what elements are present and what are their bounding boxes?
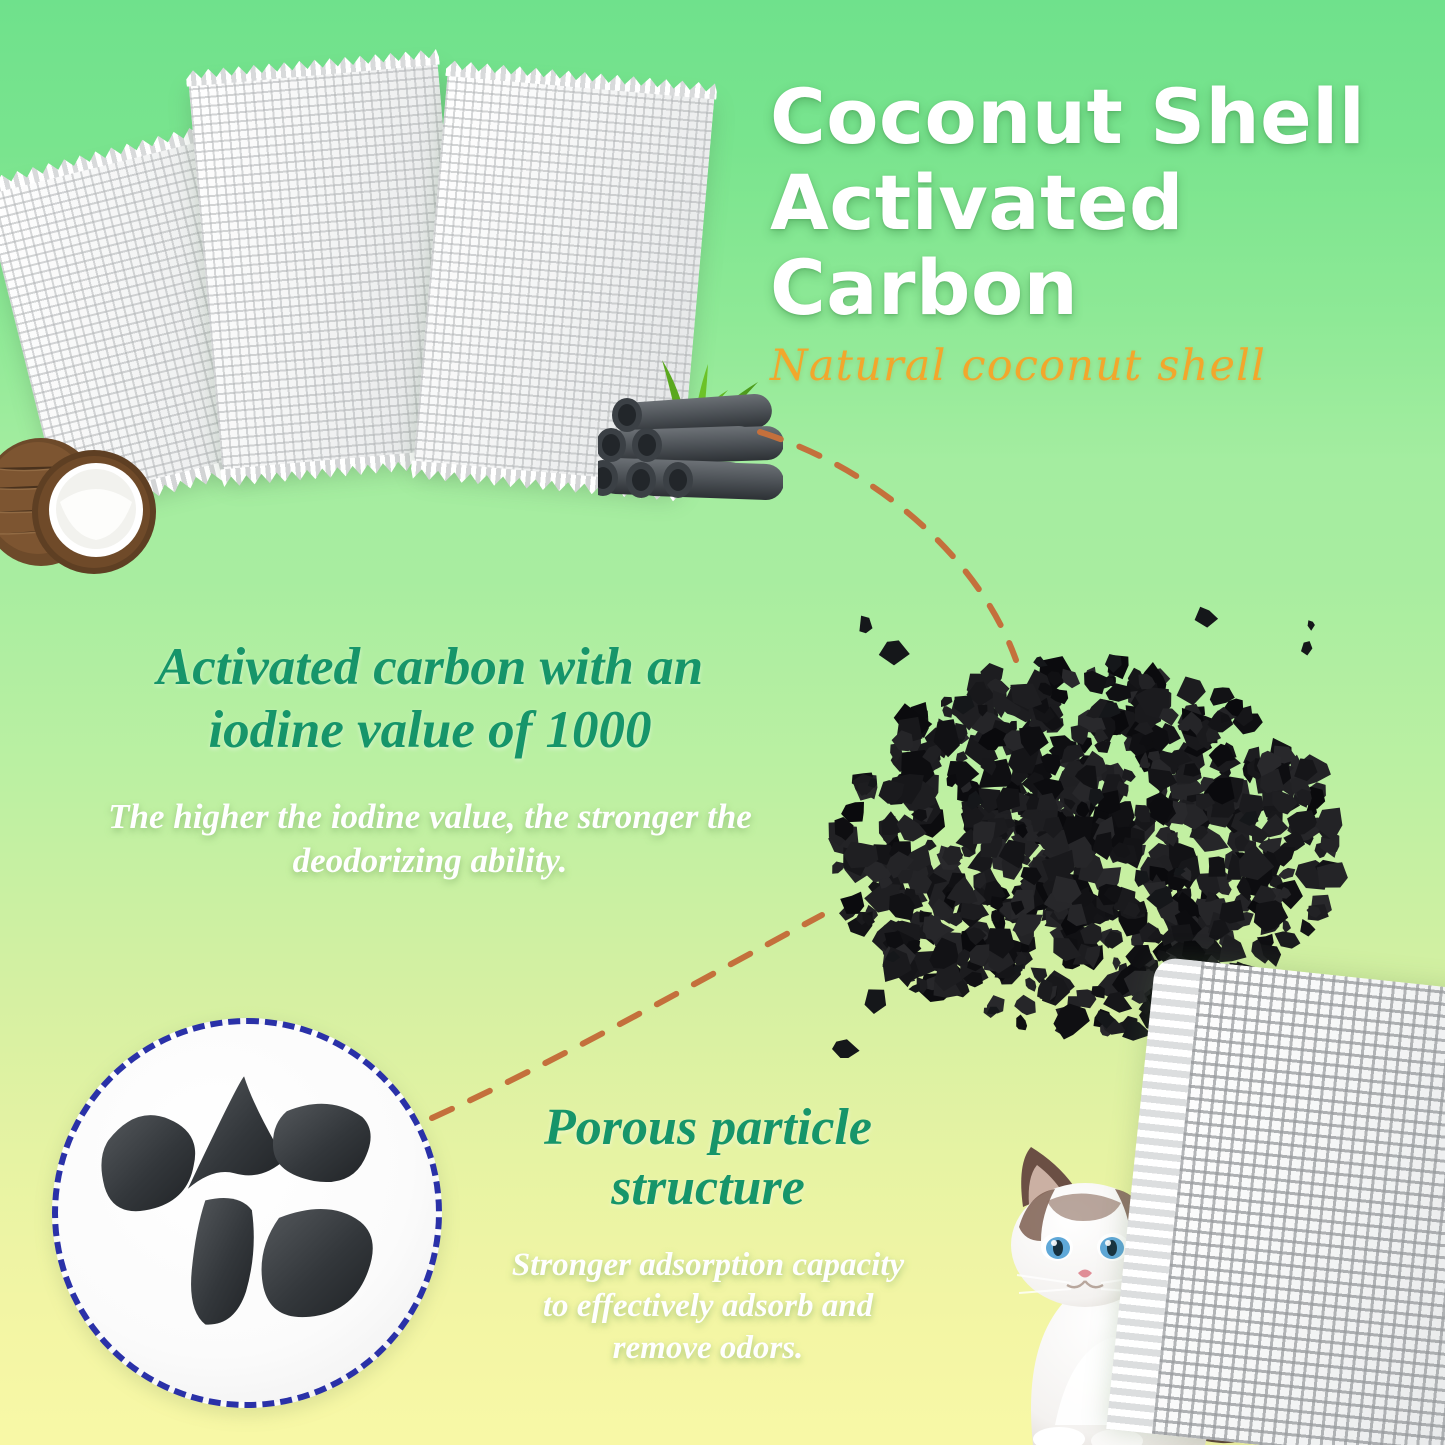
feature-iodine-heading-line-2: iodine value of 1000 — [30, 699, 830, 762]
feature-iodine-subtext-line-2: deodorizing ability. — [30, 839, 830, 883]
feature-iodine-heading-line-1: Activated carbon with an — [30, 636, 830, 699]
title-line-2: Activated — [770, 164, 1430, 242]
feature-porous-heading-line-2: structure — [448, 1158, 968, 1218]
feature-iodine-heading: Activated carbon with an iodine value of… — [30, 636, 830, 761]
mesh-bag-large — [1116, 957, 1445, 1445]
title-line-3: Carbon — [770, 249, 1430, 327]
charcoal-chunks-image — [58, 1024, 436, 1402]
feature-porous-heading: Porous particle structure — [448, 1098, 968, 1219]
product-infographic: Coconut Shell Activated Carbon Natural c… — [0, 0, 1445, 1445]
coconut-image — [0, 430, 162, 580]
feature-iodine-subtext: The higher the iodine value, the stronge… — [30, 795, 830, 883]
feature-porous-subtext-line-2: to effectively adsorb and — [448, 1286, 968, 1328]
feature-porous-subtext-line-3: remove odors. — [448, 1328, 968, 1370]
feature-porous-structure: Porous particle structure Stronger adsor… — [448, 1098, 968, 1369]
feature-porous-subtext-line-1: Stronger adsorption capacity — [448, 1245, 968, 1287]
feature-iodine-value: Activated carbon with an iodine value of… — [30, 636, 830, 883]
title-subtitle: Natural coconut shell — [770, 341, 1430, 391]
charcoal-tubes-image — [598, 380, 783, 520]
magnified-particle-inset — [52, 1018, 442, 1408]
connector-inset-to-granules — [432, 915, 822, 1118]
title-line-1: Coconut Shell — [770, 78, 1430, 156]
feature-porous-heading-line-1: Porous particle — [448, 1098, 968, 1158]
feature-iodine-subtext-line-1: The higher the iodine value, the stronge… — [30, 795, 830, 839]
feature-porous-subtext: Stronger adsorption capacity to effectiv… — [448, 1245, 968, 1370]
title-block: Coconut Shell Activated Carbon Natural c… — [770, 78, 1430, 391]
